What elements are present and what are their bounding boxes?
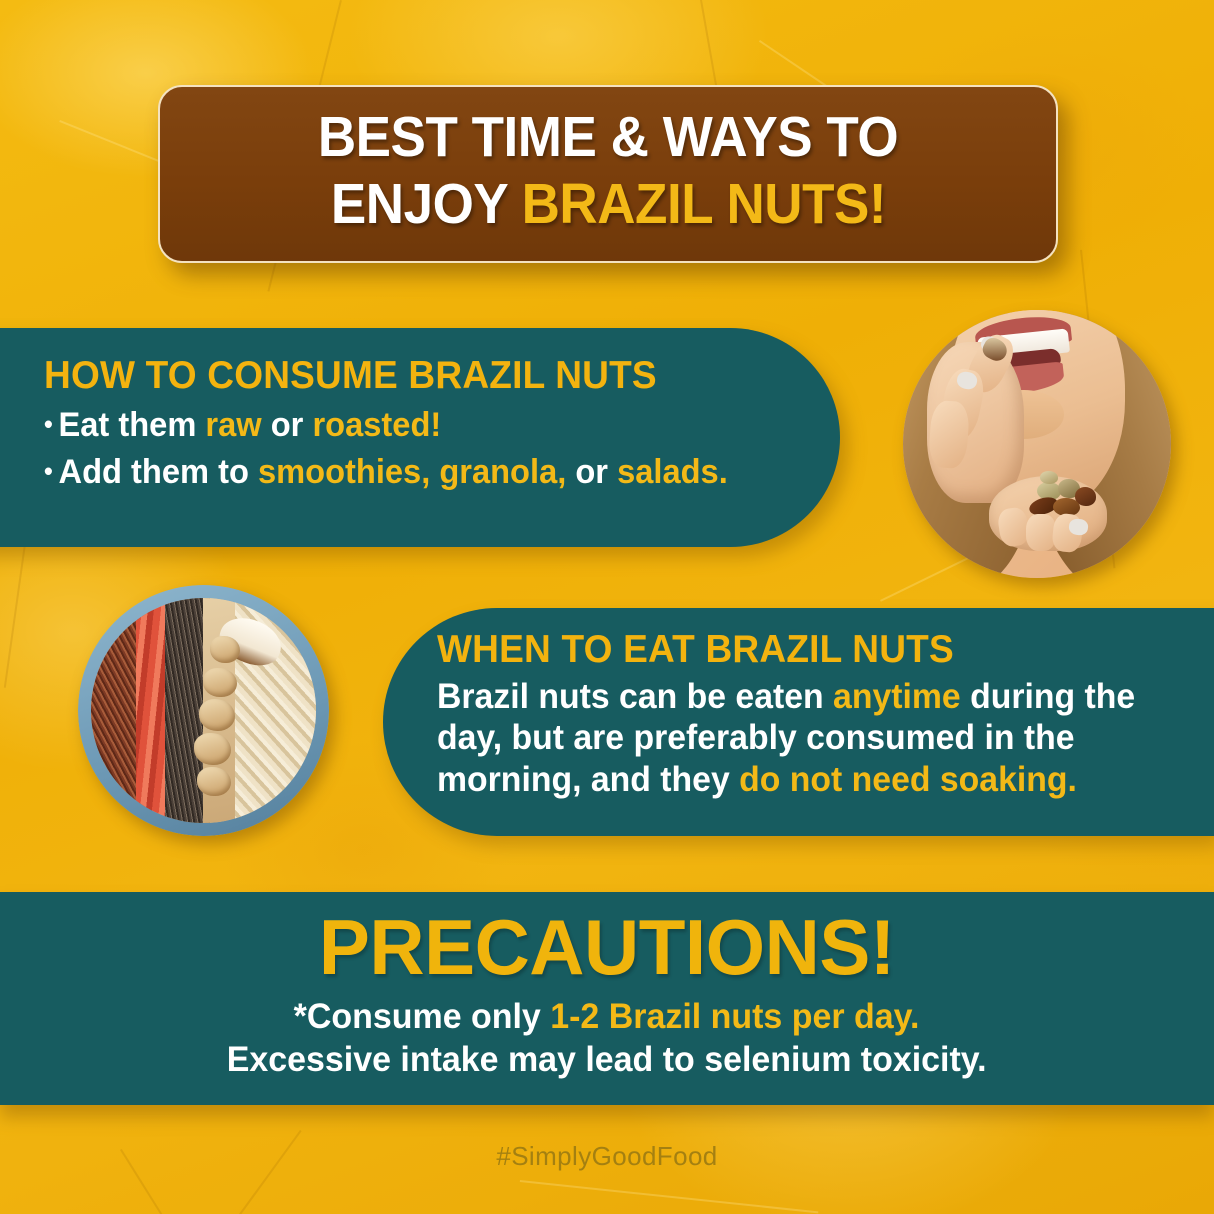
precautions-line-1-b: 1-2 Brazil nuts per day. <box>551 997 920 1036</box>
bullet-1-text-a: Eat them <box>59 406 206 444</box>
title-line-2-highlight: BRAZIL NUTS! <box>521 172 885 236</box>
bullet-glyph-1: • <box>44 409 53 439</box>
bullet-1-text-b: raw <box>205 406 261 444</box>
bullet-2-text-c: or <box>566 453 617 491</box>
infographic-canvas: BEST TIME & WAYS TO ENJOY BRAZIL NUTS! H… <box>0 0 1214 1214</box>
precautions-line-1: *Consume only 1-2 Brazil nuts per day. <box>294 996 920 1039</box>
title-line-1: BEST TIME & WAYS TO <box>318 108 898 167</box>
precautions-title: PRECAUTIONS! <box>319 908 895 986</box>
when-body-d: do not need soaking. <box>739 760 1077 799</box>
bullet-1-text-d: roasted! <box>312 406 441 444</box>
when-body-b: anytime <box>833 677 961 716</box>
precautions-line-1-a: *Consume only <box>294 997 551 1036</box>
how-to-consume-title: HOW TO CONSUME BRAZIL NUTS <box>44 354 800 398</box>
bullet-2-text-a: Add them to <box>59 453 258 491</box>
precautions-line-2: Excessive intake may lead to selenium to… <box>227 1039 987 1082</box>
footer-hashtag: #SimplyGoodFood <box>0 1141 1214 1172</box>
title-line-2: ENJOY BRAZIL NUTS! <box>330 175 885 234</box>
bullet-1-text-c: or <box>262 406 313 444</box>
when-to-eat-body: Brazil nuts can be eaten anytime during … <box>437 676 1173 800</box>
woman-eating-nuts-photo <box>903 310 1171 578</box>
title-banner: BEST TIME & WAYS TO ENJOY BRAZIL NUTS! <box>158 85 1058 263</box>
how-to-consume-panel: HOW TO CONSUME BRAZIL NUTS •Eat them raw… <box>0 328 840 547</box>
precautions-band: PRECAUTIONS! *Consume only 1-2 Brazil nu… <box>0 892 1214 1105</box>
smoothie-bowl-photo <box>78 585 329 836</box>
bullet-2-text-d: salads. <box>617 453 728 491</box>
when-to-eat-panel: WHEN TO EAT BRAZIL NUTS Brazil nuts can … <box>383 608 1214 836</box>
when-body-a: Brazil nuts can be eaten <box>437 677 833 716</box>
bullet-glyph-2: • <box>44 456 53 486</box>
title-line-2-white: ENJOY <box>330 172 506 236</box>
bullet-2-text-b: smoothies, granola, <box>258 453 566 491</box>
how-to-consume-bullet-2: •Add them to smoothies, granola, or sala… <box>44 453 808 492</box>
how-to-consume-bullet-1: •Eat them raw or roasted! <box>44 406 808 445</box>
when-to-eat-title: WHEN TO EAT BRAZIL NUTS <box>437 628 1162 672</box>
